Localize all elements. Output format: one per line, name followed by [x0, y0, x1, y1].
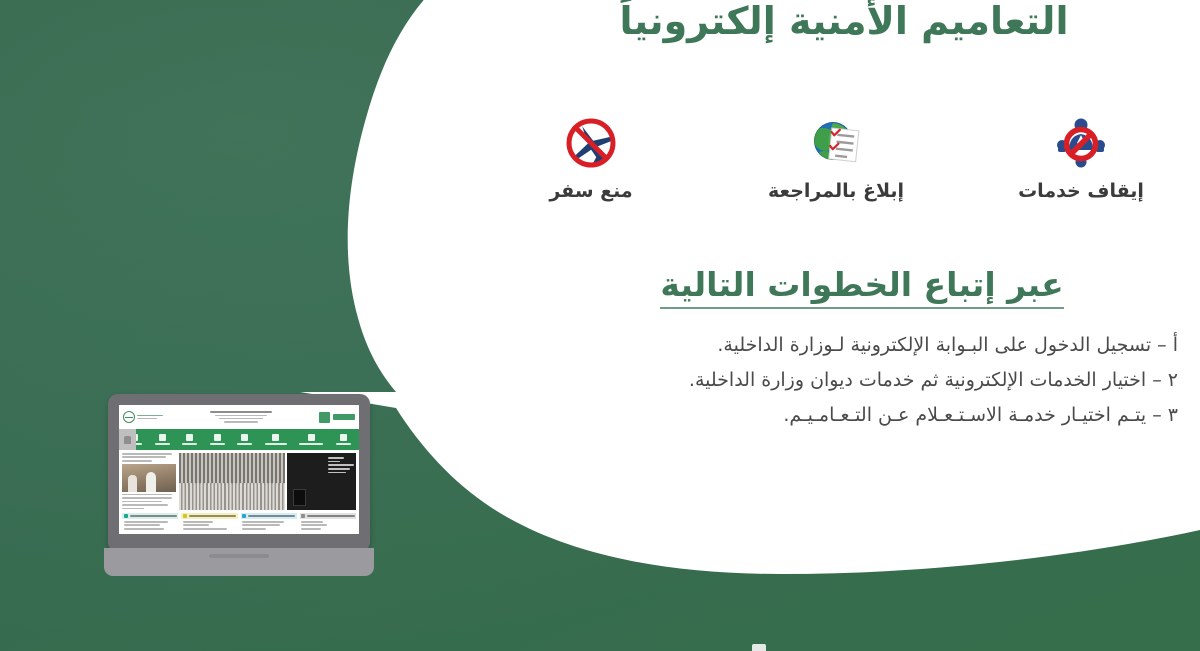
person-prohibited-icon [986, 112, 1176, 174]
section-icon [124, 514, 128, 518]
logo-text [137, 415, 163, 420]
poster-canvas: التعاميم الأمنية إلكترونياً منع سفر [0, 0, 1200, 651]
step-number: أ – [1157, 334, 1178, 356]
hero-image-small[interactable] [287, 453, 356, 510]
laptop-base [104, 548, 374, 576]
step-number: ٢ – [1152, 369, 1178, 391]
nav-item[interactable] [155, 434, 170, 444]
nav-item[interactable] [237, 434, 252, 444]
laptop-screen [119, 405, 359, 534]
nav-search-button[interactable] [119, 429, 136, 450]
nav-icon [159, 434, 166, 441]
website-header [119, 405, 359, 429]
step-text: اختيار الخدمات الإلكترونية ثم خدمات ديوا… [689, 369, 1146, 391]
bottom-cutoff-element [752, 644, 766, 651]
step-text: يتـم اختيـار خدمـة الاسـتـعـلام عـن التـ… [783, 404, 1146, 426]
steps-heading-text: عبر إتباع الخطوات التالية [660, 265, 1063, 309]
website-logo [123, 411, 163, 423]
globe-checklist-icon [741, 112, 931, 174]
sidebar-article [122, 453, 176, 510]
section-icon [301, 514, 305, 518]
nav-item[interactable] [336, 434, 351, 444]
website-bottom-sections [119, 513, 359, 533]
services-icon-row: منع سفر [496, 112, 1176, 202]
bottom-section[interactable] [122, 513, 178, 530]
nav-item[interactable] [299, 434, 323, 444]
service-caption: إبلاغ بالمراجعة [741, 180, 931, 202]
nav-icon [241, 434, 248, 441]
hero-gallery[interactable] [179, 453, 356, 510]
section-icon [242, 514, 246, 518]
service-item-review-notice[interactable]: إبلاغ بالمراجعة [741, 112, 931, 202]
bottom-section[interactable] [181, 513, 237, 530]
hero-image-large[interactable] [179, 453, 285, 510]
emblem-icon [123, 411, 135, 423]
page-title: التعاميم الأمنية إلكترونياً [524, 0, 1164, 47]
service-item-stop-services[interactable]: إيقاف خدمات [986, 112, 1176, 202]
header-button[interactable] [333, 414, 355, 420]
nav-icon [340, 434, 347, 441]
service-item-travel-ban[interactable]: منع سفر [496, 112, 686, 202]
hero-caption-lines [328, 457, 354, 473]
sidebar-text-top [122, 453, 176, 462]
nav-icon [186, 434, 193, 441]
website-main [119, 450, 359, 513]
laptop-mockup [108, 394, 370, 580]
nav-icon [308, 434, 315, 441]
user-icon [124, 436, 131, 444]
laptop-hinge [209, 554, 269, 558]
steps-heading: عبر إتباع الخطوات التالية [552, 265, 1172, 309]
nav-item[interactable] [182, 434, 197, 444]
list-item: ٢ – اختيار الخدمات الإلكترونية ثم خدمات … [538, 371, 1178, 390]
section-icon [183, 514, 187, 518]
nav-icon [272, 434, 279, 441]
nav-icon [214, 434, 221, 441]
no-travel-icon [496, 112, 686, 174]
bottom-section[interactable] [300, 513, 356, 530]
step-text: تسجيل الدخول على البـوابة الإلكترونية لـ… [717, 334, 1151, 356]
nav-item[interactable] [265, 434, 287, 444]
service-caption: منع سفر [496, 180, 686, 202]
list-item: ٣ – يتـم اختيـار خدمـة الاسـتـعـلام عـن … [538, 406, 1178, 425]
sidebar-photo [122, 464, 176, 492]
list-item: أ – تسجيل الدخول على البـوابة الإلكتروني… [538, 336, 1178, 355]
header-banner-text [210, 411, 272, 423]
service-caption: إيقاف خدمات [986, 180, 1176, 202]
step-number: ٣ – [1152, 404, 1178, 426]
bottom-section[interactable] [241, 513, 297, 530]
kaaba-shape [293, 489, 306, 506]
laptop-body [108, 394, 370, 552]
sidebar-text-bottom [122, 494, 176, 510]
nav-item[interactable] [210, 434, 225, 444]
website-navbar[interactable] [119, 429, 359, 450]
steps-list: أ – تسجيل الدخول على البـوابة الإلكتروني… [538, 336, 1178, 441]
header-badge [319, 412, 330, 423]
moi-portal-website [119, 405, 359, 534]
